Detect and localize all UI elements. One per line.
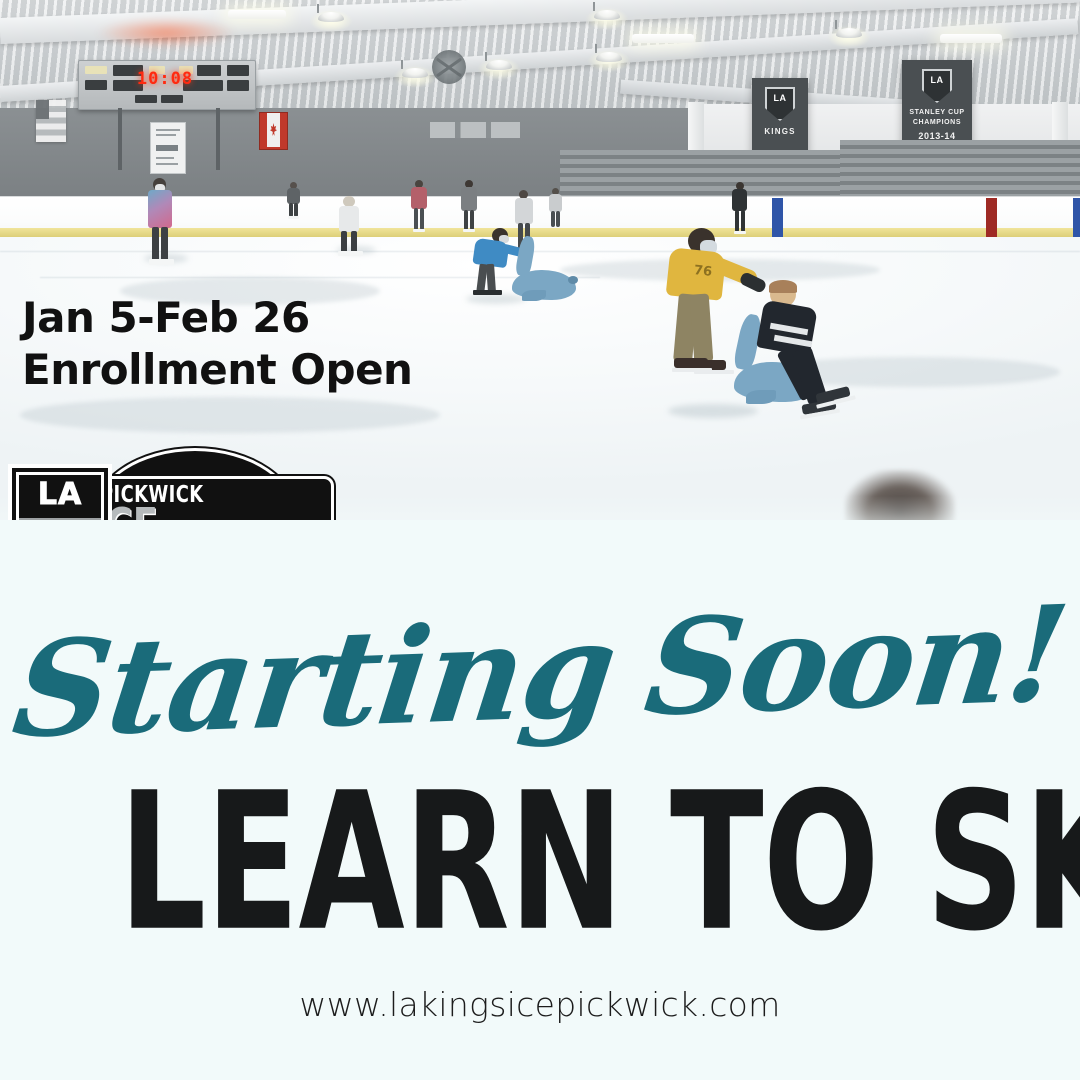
board-post-blue	[1073, 198, 1080, 237]
strip-light-icon	[228, 10, 286, 19]
website-url[interactable]: www.lakingsicepickwick.com	[0, 985, 1080, 1024]
script-word-starting: Starting	[6, 593, 623, 769]
wall-sign	[150, 122, 186, 174]
canada-flag-icon	[259, 112, 288, 150]
kings-shield-icon: LA	[765, 87, 795, 121]
cup-line-1: STANLEY CUP	[902, 108, 972, 118]
learn-to-skate-headline: LEARN TO SKATE	[119, 768, 961, 958]
starting-soon-script: StartingSoon!	[0, 579, 1080, 767]
jersey-number: 76	[693, 263, 713, 280]
enrollment-date-overlay: Jan 5-Feb 26 Enrollment Open	[22, 292, 412, 396]
scoreboard-clock: 10:08	[129, 70, 201, 89]
script-word-soon: Soon!	[638, 577, 1074, 746]
ceiling-fan-icon	[432, 50, 466, 84]
enrollment-status-text: Enrollment Open	[22, 344, 412, 396]
us-flag-icon	[36, 100, 66, 142]
board-post-red	[986, 198, 997, 237]
scoreboard: 10:08	[78, 60, 256, 110]
scoreboard-glow	[96, 18, 236, 48]
board-post-blue	[772, 198, 783, 237]
strip-light-icon	[632, 34, 694, 43]
promo-text-panel: StartingSoon! LEARN TO SKATE www.lakings…	[0, 520, 1080, 1080]
wall-vents	[430, 122, 520, 138]
kings-shield-icon: LA	[922, 69, 952, 103]
learn-to-skate-promo-poster: 10:08 LA KINGS LA STANLEY CUP CHAMPIONS …	[0, 0, 1080, 1080]
cup-line-2: CHAMPIONS	[902, 118, 972, 128]
shield-la-monogram: LA	[19, 480, 101, 510]
strip-light-icon	[940, 34, 1002, 43]
date-range-text: Jan 5-Feb 26	[22, 293, 310, 342]
kings-banner-label: KINGS	[752, 126, 808, 137]
